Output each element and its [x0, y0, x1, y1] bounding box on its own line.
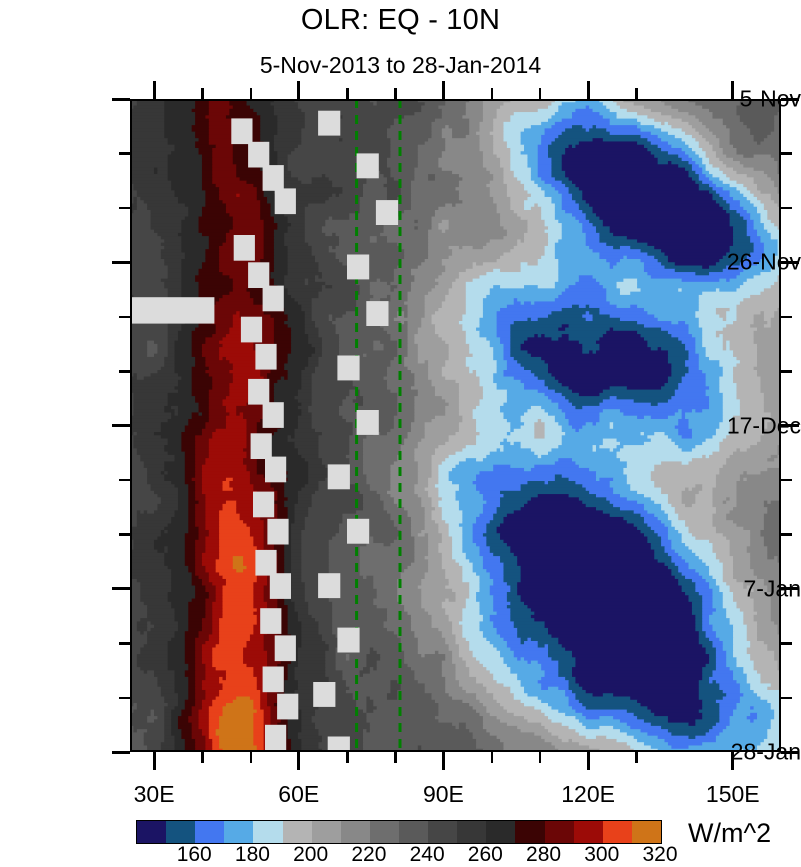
x-major-tick-top: [442, 81, 445, 99]
x-major-tick: [587, 752, 590, 770]
y-minor-tick-right: [781, 479, 792, 482]
colorbar-swatch-8[interactable]: [370, 821, 399, 843]
y-minor-tick-right: [781, 533, 792, 536]
y-axis-label: 17-Dec: [695, 412, 801, 439]
y-major-tick: [112, 587, 130, 590]
x-minor-tick: [491, 752, 494, 763]
x-minor-tick: [346, 752, 349, 763]
x-major-tick: [731, 752, 734, 770]
y-minor-tick-right: [781, 642, 792, 645]
y-minor-tick: [119, 697, 130, 700]
colorbar-swatch-4[interactable]: [253, 821, 282, 843]
y-major-tick: [112, 751, 130, 754]
x-major-tick-top: [297, 81, 300, 99]
x-minor-tick-top: [491, 88, 494, 99]
x-axis-label: 120E: [561, 781, 615, 808]
colorbar-tick-label: 280: [526, 843, 561, 867]
x-minor-tick: [250, 752, 253, 763]
y-minor-tick-right: [781, 207, 792, 210]
figure-root: OLR: EQ - 10N 5-Nov-2013 to 28-Jan-2014 …: [0, 0, 801, 863]
y-minor-tick: [119, 370, 130, 373]
colorbar-swatch-12[interactable]: [486, 821, 515, 843]
colorbar-tick-label: 300: [584, 843, 619, 867]
x-minor-tick: [394, 752, 397, 763]
plot-area: [130, 99, 781, 752]
x-major-tick: [442, 752, 445, 770]
y-major-tick: [112, 424, 130, 427]
colorbar-swatch-15[interactable]: [574, 821, 603, 843]
x-minor-tick-top: [346, 88, 349, 99]
colorbar-units-label: W/m^2: [688, 818, 771, 849]
colorbar-swatch-6[interactable]: [312, 821, 341, 843]
colorbar-swatch-11[interactable]: [457, 821, 486, 843]
y-major-tick: [112, 261, 130, 264]
x-minor-tick: [201, 752, 204, 763]
x-axis-label: 90E: [423, 781, 464, 808]
colorbar-swatch-2[interactable]: [195, 821, 224, 843]
x-axis-label: 60E: [278, 781, 319, 808]
x-minor-tick-top: [250, 88, 253, 99]
x-major-tick-top: [153, 81, 156, 99]
colorbar-swatch-10[interactable]: [428, 821, 457, 843]
colorbar-tick-label: 200: [293, 843, 328, 867]
y-minor-tick: [119, 207, 130, 210]
y-minor-tick: [119, 152, 130, 155]
x-major-tick-top: [731, 81, 734, 99]
y-minor-tick-right: [781, 152, 792, 155]
y-major-tick: [112, 98, 130, 101]
x-minor-tick-top: [394, 88, 397, 99]
x-minor-tick: [539, 752, 542, 763]
colorbar-tick-label: 220: [351, 843, 386, 867]
colorbar-swatch-16[interactable]: [603, 821, 632, 843]
y-minor-tick: [119, 642, 130, 645]
y-minor-tick-right: [781, 316, 792, 319]
x-minor-tick-top: [635, 88, 638, 99]
x-major-tick-top: [587, 81, 590, 99]
colorbar-tick-label: 320: [642, 843, 677, 867]
x-axis-label: 150E: [706, 781, 760, 808]
y-minor-tick-right: [781, 697, 792, 700]
colorbar-swatch-7[interactable]: [341, 821, 370, 843]
y-minor-tick: [119, 316, 130, 319]
colorbar-swatch-0[interactable]: [137, 821, 166, 843]
y-axis-label: 5-Nov: [695, 86, 801, 113]
y-minor-tick: [119, 479, 130, 482]
x-minor-tick-top: [201, 88, 204, 99]
colorbar-swatch-13[interactable]: [515, 821, 544, 843]
x-major-tick: [153, 752, 156, 770]
colorbar-swatch-14[interactable]: [545, 821, 574, 843]
colorbar[interactable]: [136, 820, 662, 844]
colorbar-tick-label: 160: [177, 843, 212, 867]
colorbar-tick-label: 180: [235, 843, 270, 867]
x-axis-label: 30E: [134, 781, 175, 808]
hovmoller-field: [130, 99, 781, 752]
y-axis-label: 7-Jan: [695, 575, 801, 602]
y-minor-tick-right: [781, 370, 792, 373]
x-minor-tick: [635, 752, 638, 763]
y-axis-label: 26-Nov: [695, 249, 801, 276]
colorbar-tick-label: 240: [410, 843, 445, 867]
y-axis-label: 28-Jan: [695, 739, 801, 766]
y-minor-tick: [119, 533, 130, 536]
colorbar-swatch-3[interactable]: [224, 821, 253, 843]
colorbar-swatch-1[interactable]: [166, 821, 195, 843]
colorbar-swatch-17[interactable]: [632, 821, 661, 843]
x-minor-tick-top: [539, 88, 542, 99]
page-title: OLR: EQ - 10N: [0, 4, 801, 37]
x-major-tick: [297, 752, 300, 770]
colorbar-tick-label: 260: [468, 843, 503, 867]
figure-subtitle: 5-Nov-2013 to 28-Jan-2014: [0, 52, 801, 79]
colorbar-swatch-9[interactable]: [399, 821, 428, 843]
colorbar-swatch-5[interactable]: [283, 821, 312, 843]
